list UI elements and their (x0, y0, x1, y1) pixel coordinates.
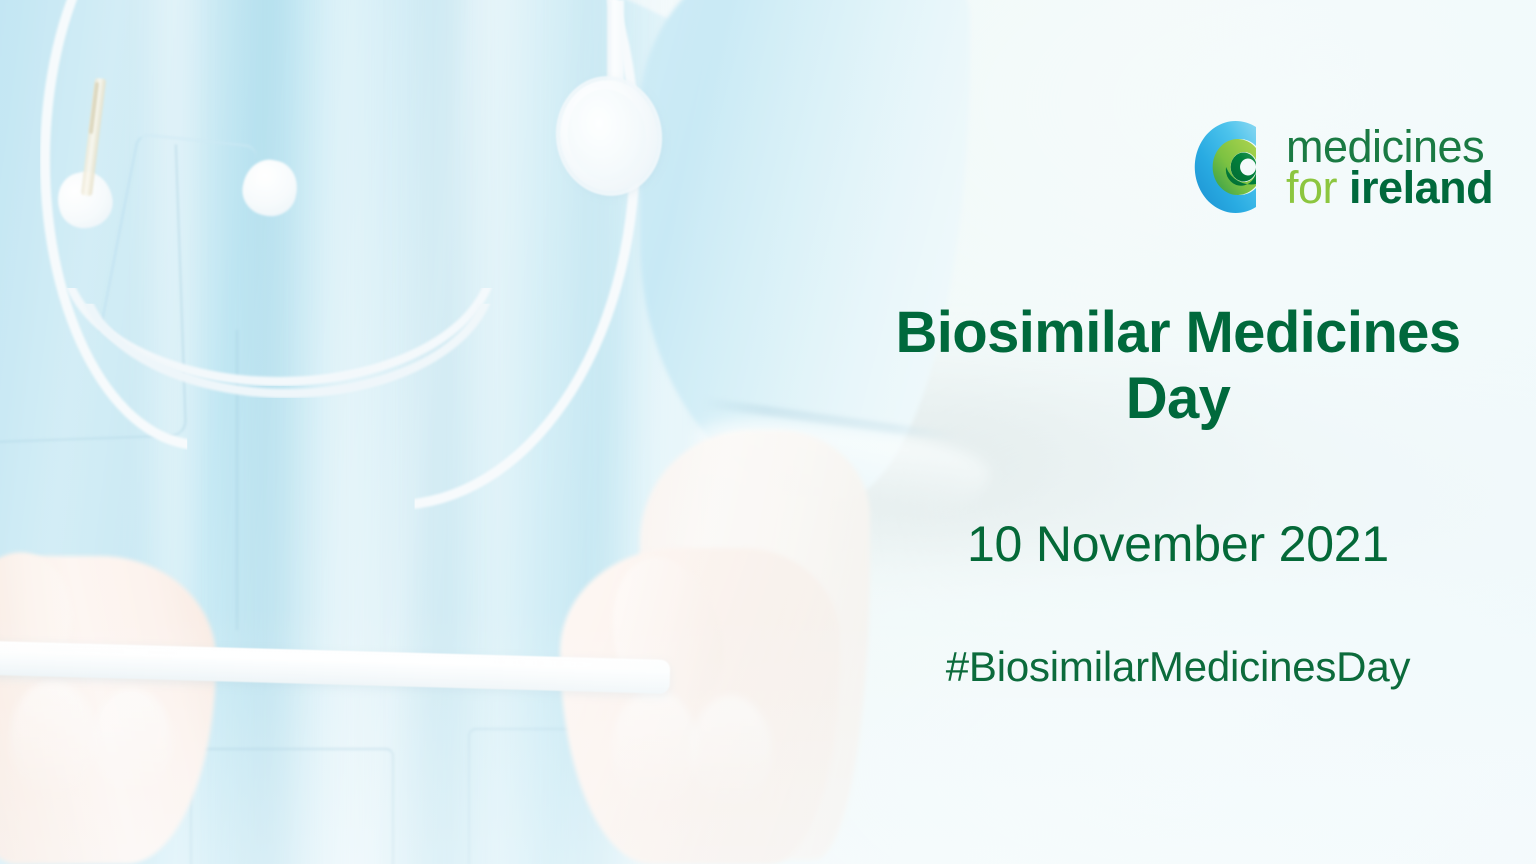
logo-word-for: for (1286, 162, 1337, 213)
campaign-hashtag: #BiosimilarMedicinesDay (840, 643, 1516, 691)
content-column: medicines for ireland Biosimilar Medicin… (820, 0, 1536, 864)
logo-wordmark: medicines for ireland (1286, 126, 1493, 209)
nested-c-arcs-icon (1186, 118, 1270, 216)
medicines-for-ireland-logo[interactable]: medicines for ireland (1186, 118, 1493, 216)
event-date: 10 November 2021 (840, 515, 1516, 573)
biosimilar-medicines-day-banner: medicines for ireland Biosimilar Medicin… (0, 0, 1536, 864)
logo-word-for-ireland: for ireland (1286, 167, 1493, 208)
logo-word-ireland: ireland (1349, 162, 1493, 213)
logo-word-medicines: medicines (1286, 126, 1493, 167)
page-title: Biosimilar Medicines Day (840, 300, 1516, 431)
